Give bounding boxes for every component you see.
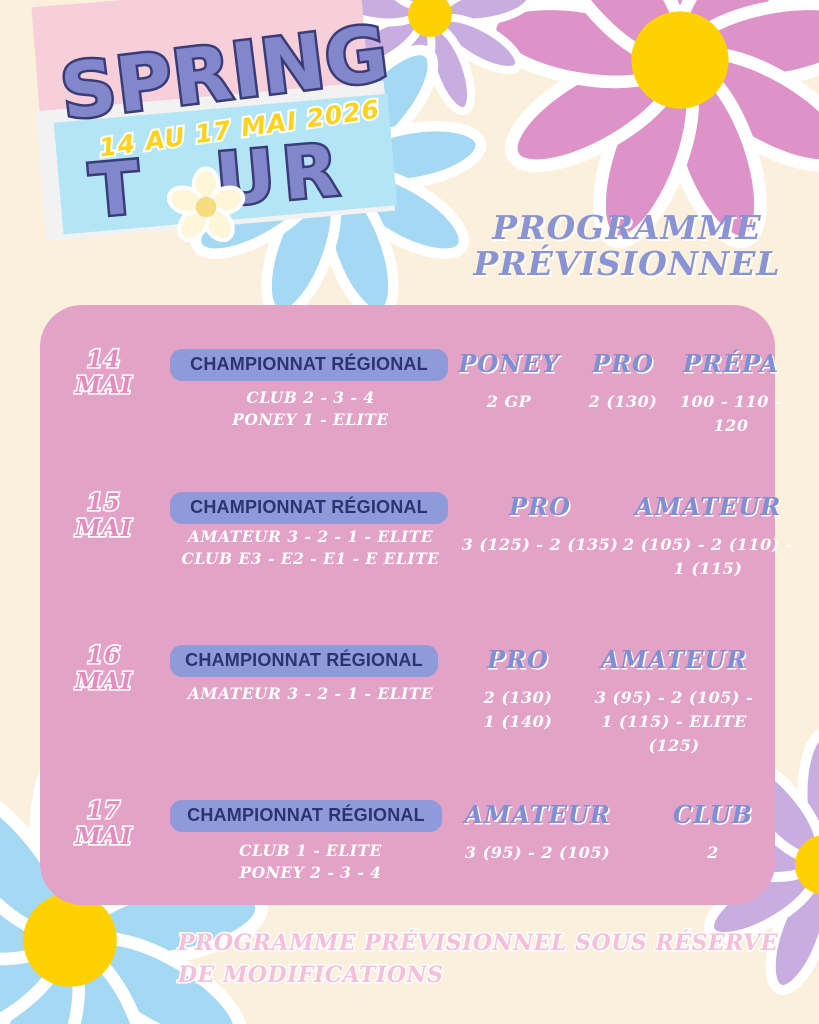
- category-cell: AMATEUR 3 (95) - 2 (105) - 1 (115) - ELI…: [588, 645, 760, 758]
- category-value: 3 (95) - 2 (105): [440, 841, 635, 865]
- category-value: 3 (125) - 2 (135): [440, 533, 640, 557]
- category-value: 3 (95) - 2 (105) - 1 (115) - ELITE (125): [588, 686, 760, 758]
- disclaimer-text: PROGRAMME PRÉVISIONNEL SOUS RÉSERVE DE M…: [178, 928, 798, 992]
- category-cell: AMATEUR 2 (105) - 2 (110) - 1 (115): [618, 492, 798, 581]
- row-date: 14MAI: [54, 347, 154, 399]
- poster: SPRING TOUR 14 AU 17 MAI 2026 PROGRAMME …: [0, 0, 819, 1024]
- category-title: AMATEUR: [588, 645, 760, 674]
- championship-badge[interactable]: CHAMPIONNAT RÉGIONAL: [170, 645, 438, 677]
- championship-badge[interactable]: CHAMPIONNAT RÉGIONAL: [170, 492, 448, 524]
- logo-daisy-icon: [165, 166, 247, 253]
- category-cell: PRO 2 (130): [568, 349, 678, 414]
- category-value: 2: [648, 841, 778, 865]
- flower-pink-top-right: [500, 0, 819, 240]
- schedule-row: 17MAI CHAMPIONNAT RÉGIONAL CLUB 1 - ELIT…: [40, 778, 775, 898]
- row-date: 17MAI: [54, 798, 154, 850]
- category-title: PRO: [440, 492, 640, 521]
- category-cell: PRÉPA 100 - 110 - 120: [678, 349, 784, 438]
- page-title: PROGRAMME PRÉVISIONNEL: [452, 210, 802, 281]
- category-title: PRO: [448, 645, 588, 674]
- category-value: 2 (130)1 (140): [448, 686, 588, 734]
- page-title-line2: PRÉVISIONNEL: [452, 246, 802, 282]
- row-date: 15MAI: [54, 490, 154, 542]
- category-value: 100 - 110 - 120: [678, 390, 784, 438]
- category-cell: AMATEUR 3 (95) - 2 (105): [440, 800, 635, 865]
- category-title: CLUB: [648, 800, 778, 829]
- championship-subtitle: CLUB 1 - ELITEPONEY 2 - 3 - 4: [158, 840, 463, 885]
- row-date: 16MAI: [54, 643, 154, 695]
- category-title: AMATEUR: [618, 492, 798, 521]
- category-value: 2 GP: [450, 390, 568, 414]
- category-title: PRO: [568, 349, 678, 378]
- category-cell: PONEY 2 GP: [450, 349, 568, 414]
- championship-subtitle: AMATEUR 3 - 2 - 1 - ELITECLUB E3 - E2 - …: [158, 526, 463, 571]
- category-cell: PRO 3 (125) - 2 (135): [440, 492, 640, 557]
- championship-badge[interactable]: CHAMPIONNAT RÉGIONAL: [170, 349, 448, 381]
- schedule-row: 15MAI CHAMPIONNAT RÉGIONAL AMATEUR 3 - 2…: [40, 470, 775, 618]
- schedule-row: 16MAI CHAMPIONNAT RÉGIONAL AMATEUR 3 - 2…: [40, 623, 775, 773]
- category-value: 2 (130): [568, 390, 678, 414]
- category-title: PONEY: [450, 349, 568, 378]
- schedule-row: 14MAI CHAMPIONNAT RÉGIONAL CLUB 2 - 3 - …: [40, 327, 775, 467]
- category-title: PRÉPA: [678, 349, 784, 378]
- page-title-line1: PROGRAMME: [452, 210, 802, 246]
- category-title: AMATEUR: [440, 800, 635, 829]
- schedule-card: 14MAI CHAMPIONNAT RÉGIONAL CLUB 2 - 3 - …: [40, 305, 775, 905]
- category-cell: PRO 2 (130)1 (140): [448, 645, 588, 734]
- championship-subtitle: CLUB 2 - 3 - 4PONEY 1 - ELITE: [158, 387, 463, 432]
- event-logo: SPRING TOUR 14 AU 17 MAI 2026: [20, 0, 420, 288]
- championship-badge[interactable]: CHAMPIONNAT RÉGIONAL: [170, 800, 442, 832]
- category-value: 2 (105) - 2 (110) - 1 (115): [618, 533, 798, 581]
- championship-subtitle: AMATEUR 3 - 2 - 1 - ELITE: [158, 683, 463, 705]
- category-cell: CLUB 2: [648, 800, 778, 865]
